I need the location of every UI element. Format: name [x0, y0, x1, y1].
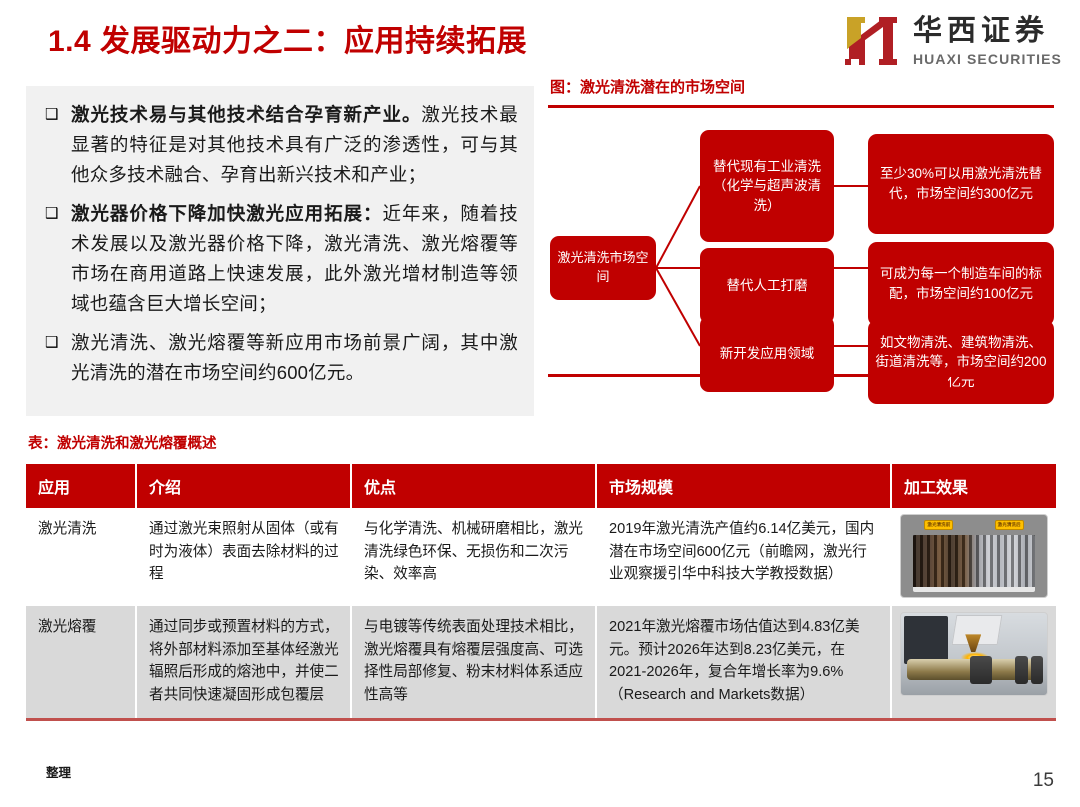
- diagram-branch-node-1: 替代现有工业清洗（化学与超声波清洗）: [700, 130, 834, 242]
- logo-wordmark: 华西证券 HUAXI SECURITIES: [913, 17, 1062, 66]
- shaft-collar: [970, 656, 992, 684]
- diagram-canvas: 激光清洗市场空间 替代现有工业清洗（化学与超声波清洗） 替代人工打磨 新开发应用…: [548, 108, 1056, 372]
- cell-application: 激光熔覆: [26, 606, 136, 718]
- company-logo: 华西证券 HUAXI SECURITIES: [841, 12, 1062, 70]
- cell-processing-effect: [891, 606, 1056, 718]
- overview-table: 应用 介绍 优点 市场规模 加工效果 激光清洗 通过激光束照射从固体（或有时为液…: [26, 464, 1056, 718]
- bullet-item: ❑ 激光器价格下降加快激光应用拓展：近年来，随着技术发展以及激光器价格下降，激光…: [42, 199, 518, 319]
- laser-cleaning-before-after-photo: 激光清洗前 激光清洗后: [900, 514, 1048, 598]
- bullet-item: ❑ 激光清洗、激光熔覆等新应用市场前景广阔，其中激光清洗的潜在市场空间约600亿…: [42, 328, 518, 388]
- machine-cabinet: [904, 616, 948, 664]
- column-header-merits: 优点: [351, 464, 596, 508]
- table-row: 激光清洗 通过激光束照射从固体（或有时为液体）表面去除材料的过程 与化学清洗、机…: [26, 508, 1056, 606]
- diagram-leaf-node-1: 至少30%可以用激光清洗替代，市场空间约300亿元: [868, 134, 1054, 234]
- bullet-marker-icon: ❑: [42, 100, 71, 130]
- diagram-bottom-rule: [548, 374, 1054, 377]
- diagram-caption: 图：激光清洗潜在的市场空间: [550, 76, 745, 97]
- page-title: 1.4 发展驱动力之二：应用持续拓展: [48, 16, 527, 60]
- photo-label-after: 激光清洗后: [995, 520, 1024, 530]
- market-space-diagram: 图：激光清洗潜在的市场空间 激光清洗市场空间 替代现有工业清洗（化学与超声波清洗…: [548, 76, 1056, 392]
- cell-merits: 与化学清洗、机械研磨相比，激光清洗绿色环保、无损伤和二次污染、效率高: [351, 508, 596, 606]
- slide-header: 1.4 发展驱动力之二：应用持续拓展 华西证券 HUAXI SECURITIES: [0, 0, 1080, 78]
- cell-market-size: 2019年激光清洗产值约6.14亿美元，国内潜在市场空间600亿元（前瞻网，激光…: [596, 508, 891, 606]
- logo-english-name: HUAXI SECURITIES: [913, 52, 1062, 66]
- cell-application: 激光清洗: [26, 508, 136, 606]
- laser-cladding-process-photo: [900, 612, 1048, 696]
- diagram-leaf-node-3: 如文物清洗、建筑物清洗、街道清洗等，市场空间约200亿元: [868, 320, 1054, 404]
- table-header-row: 应用 介绍 优点 市场规模 加工效果: [26, 464, 1056, 508]
- huaxi-h-monogram-icon: [841, 13, 903, 69]
- source-note: 整理: [46, 762, 71, 781]
- bullet-text: 激光技术易与其他技术结合孕育新产业。激光技术最显著的特征是对其他技术具有广泛的渗…: [71, 100, 518, 190]
- diagram-leaf-node-2: 可成为每一个制造车间的标配，市场空间约100亿元: [868, 242, 1054, 326]
- cell-merits: 与电镀等传统表面处理技术相比，激光熔覆具有熔覆层强度高、可选择性局部修复、粉末材…: [351, 606, 596, 718]
- key-points-panel: ❑ 激光技术易与其他技术结合孕育新产业。激光技术最显著的特征是对其他技术具有广泛…: [26, 86, 534, 416]
- bullet-marker-icon: ❑: [42, 199, 71, 229]
- overview-table-block: 表：激光清洗和激光熔覆概述 应用 介绍 优点 市场规模 加工效果 激光清洗 通过…: [26, 432, 1056, 721]
- shaft-collar: [1015, 656, 1028, 684]
- shaft-collar: [1031, 656, 1043, 684]
- table-caption: 表：激光清洗和激光熔覆概述: [28, 432, 1056, 453]
- bullet-item: ❑ 激光技术易与其他技术结合孕育新产业。激光技术最显著的特征是对其他技术具有广泛…: [42, 100, 518, 190]
- cell-introduction: 通过同步或预置材料的方式，将外部材料添加至基体经激光辐照后形成的熔池中，并使二者…: [136, 606, 351, 718]
- diagram-branch-node-2: 替代人工打磨: [700, 248, 834, 324]
- column-header-introduction: 介绍: [136, 464, 351, 508]
- logo-chinese-name: 华西证券: [913, 17, 1062, 46]
- table-bottom-rule: [26, 718, 1056, 721]
- cell-market-size: 2021年激光熔覆市场估值达到4.83亿美元。预计2026年达到8.23亿美元，…: [596, 606, 891, 718]
- page-number: 15: [1033, 770, 1054, 792]
- bullet-lead: 激光技术易与其他技术结合孕育新产业。: [71, 104, 421, 125]
- diagram-root-node: 激光清洗市场空间: [550, 236, 656, 300]
- metal-part-image: [913, 535, 1036, 592]
- cell-processing-effect: 激光清洗前 激光清洗后: [891, 508, 1056, 606]
- cell-introduction: 通过激光束照射从固体（或有时为液体）表面去除材料的过程: [136, 508, 351, 606]
- bullet-text: 激光清洗、激光熔覆等新应用市场前景广阔，其中激光清洗的潜在市场空间约600亿元。: [71, 328, 518, 388]
- column-header-market-size: 市场规模: [596, 464, 891, 508]
- column-header-processing-effect: 加工效果: [891, 464, 1056, 508]
- column-header-application: 应用: [26, 464, 136, 508]
- bullet-lead: 激光器价格下降加快激光应用拓展：: [71, 203, 383, 224]
- bullet-marker-icon: ❑: [42, 328, 71, 358]
- bullet-text: 激光器价格下降加快激光应用拓展：近年来，随着技术发展以及激光器价格下降，激光清洗…: [71, 199, 518, 319]
- bullet-body: 激光清洗、激光熔覆等新应用市场前景广阔，其中激光清洗的潜在市场空间约600亿元。: [71, 332, 518, 383]
- table-row: 激光熔覆 通过同步或预置材料的方式，将外部材料添加至基体经激光辐照后形成的熔池中…: [26, 606, 1056, 718]
- diagram-branch-node-3: 新开发应用领域: [700, 316, 834, 392]
- photo-label-before: 激光清洗前: [924, 520, 953, 530]
